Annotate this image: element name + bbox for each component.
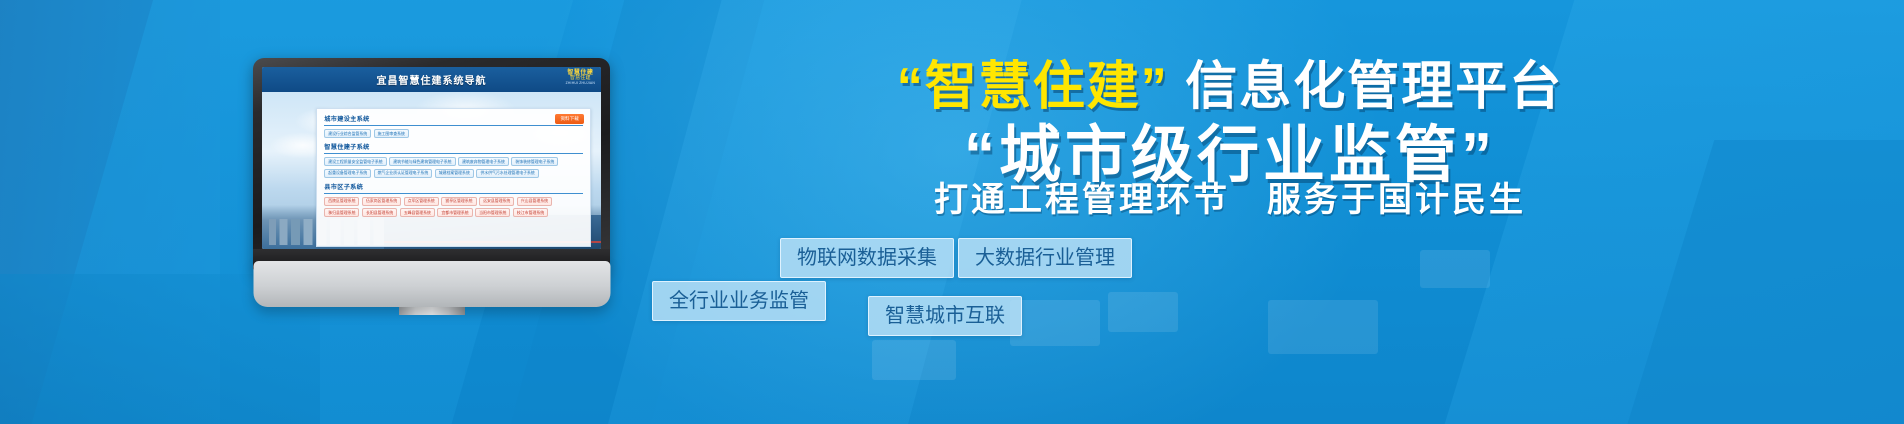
screen-subsystem-tag[interactable]: 伍家岗区管理系统 <box>362 197 401 206</box>
screen-subsystem-tag[interactable]: 城建档案管理系统 <box>435 169 474 178</box>
screen-subsystem-tag[interactable]: 远安县管理系统 <box>479 197 514 206</box>
screen-section-title: 县市区子系统 <box>324 182 583 194</box>
screen-subsystem-tag[interactable]: 燃气企业质认证管理电子系统 <box>374 169 433 178</box>
screen-subsystem-tag[interactable]: 秭归县管理系统 <box>324 208 359 217</box>
screen-section-title: 智慧住建子系统 <box>324 142 583 154</box>
screen-subsystem-tag[interactable]: 供水供气污水处理管理电子系统 <box>476 169 538 178</box>
screen-subsystem-tag[interactable]: 长阳县管理系统 <box>362 208 397 217</box>
screen-tag-list: 建设工程质量安全监管电子系统建筑节能与绿色建筑管理电子系统建筑废弃物管理电子系统… <box>324 157 583 178</box>
monitor-stand-base <box>253 261 610 307</box>
screen-header-bar: 宜昌智慧住建系统导航 智慧住建 智慧住建 ZHIHUI ZHUJIAN <box>262 67 601 92</box>
screen-subsystem-tag[interactable]: 五峰县管理系统 <box>400 208 435 217</box>
screen-subsystem-tag[interactable]: 当阳市管理系统 <box>475 208 510 217</box>
screen-section: 智慧住建子系统建设工程质量安全监管电子系统建筑节能与绿色建筑管理电子系统建筑废弃… <box>324 142 583 178</box>
logo-line-3: ZHIHUI ZHUJIAN <box>566 82 595 86</box>
monitor-bezel: 宜昌智慧住建系统导航 智慧住建 智慧住建 ZHIHUI ZHUJIAN 资料下载… <box>253 58 610 271</box>
screen-subsystem-tag[interactable]: 点军区管理系统 <box>404 197 439 206</box>
screen-body: 资料下载 城市建设主系统建设行业综合监管系统施工图审查系统智慧住建子系统建设工程… <box>262 92 601 249</box>
screen-subsystem-tag[interactable]: 兴山县管理系统 <box>517 197 552 206</box>
screen-subsystem-tag[interactable]: 建筑节能与绿色建筑管理电子系统 <box>389 157 455 166</box>
screen-tag-list: 建设行业综合监管系统施工图审查系统 <box>324 129 583 138</box>
screen-subsystem-tag[interactable]: 施工图审查系统 <box>374 129 409 138</box>
monitor-screen: 宜昌智慧住建系统导航 智慧住建 智慧住建 ZHIHUI ZHUJIAN 资料下载… <box>262 67 601 249</box>
screen-section: 县市区子系统西陵区管理系统伍家岗区管理系统点军区管理系统猇亭区管理系统远安县管理… <box>324 182 583 218</box>
screen-subsystem-tag[interactable]: 宜都市管理系统 <box>437 208 472 217</box>
feature-pill-industry[interactable]: 全行业业务监管 <box>652 281 826 321</box>
screen-tag-list: 西陵区管理系统伍家岗区管理系统点军区管理系统猇亭区管理系统远安县管理系统兴山县管… <box>324 197 583 218</box>
screen-subsystem-tag[interactable]: 枝江市管理系统 <box>513 208 548 217</box>
screen-subsystem-tag[interactable]: 西陵区管理系统 <box>324 197 359 206</box>
screen-header-title: 宜昌智慧住建系统导航 <box>377 72 487 87</box>
screen-subsystem-tag[interactable]: 猇亭区管理系统 <box>441 197 476 206</box>
screen-subsystem-tag[interactable]: 装饰装修管理电子系统 <box>511 157 558 166</box>
screen-nav-panel: 资料下载 城市建设主系统建设行业综合监管系统施工图审查系统智慧住建子系统建设工程… <box>316 108 591 247</box>
screen-section: 城市建设主系统建设行业综合监管系统施工图审查系统 <box>324 114 583 138</box>
headline-block: “智慧住建” 信息化管理平台 “城市级行业监管” 打通工程管理环节 服务于国计民… <box>640 0 1904 424</box>
screen-subsystem-tag[interactable]: 建设工程质量安全监管电子系统 <box>324 157 386 166</box>
screen-section-title: 城市建设主系统 <box>324 114 583 126</box>
screen-subsystem-tag[interactable]: 建筑废弃物管理电子系统 <box>458 157 509 166</box>
screen-brand-logo: 智慧住建 智慧住建 ZHIHUI ZHUJIAN <box>566 70 595 85</box>
feature-pill-bigdata[interactable]: 大数据行业管理 <box>958 238 1132 278</box>
screen-subsystem-tag[interactable]: 建设行业综合监管系统 <box>324 129 371 138</box>
headline-subtitle: 打通工程管理环节 服务于国计民生 <box>640 172 1820 221</box>
screen-sections: 城市建设主系统建设行业综合监管系统施工图审查系统智慧住建子系统建设工程质量安全监… <box>324 114 583 217</box>
screen-download-button[interactable]: 资料下载 <box>555 114 583 124</box>
feature-pill-iot[interactable]: 物联网数据采集 <box>780 238 954 278</box>
feature-pill-smartcity[interactable]: 智慧城市互联 <box>868 296 1022 336</box>
bg-facet-left <box>0 0 220 424</box>
imac-mockup: 宜昌智慧住建系统导航 智慧住建 智慧住建 ZHIHUI ZHUJIAN 资料下载… <box>253 58 610 305</box>
promo-banner: 宜昌智慧住建系统导航 智慧住建 智慧住建 ZHIHUI ZHUJIAN 资料下载… <box>0 0 1904 424</box>
screen-subsystem-tag[interactable]: 起重设备管理电子系统 <box>324 169 371 178</box>
